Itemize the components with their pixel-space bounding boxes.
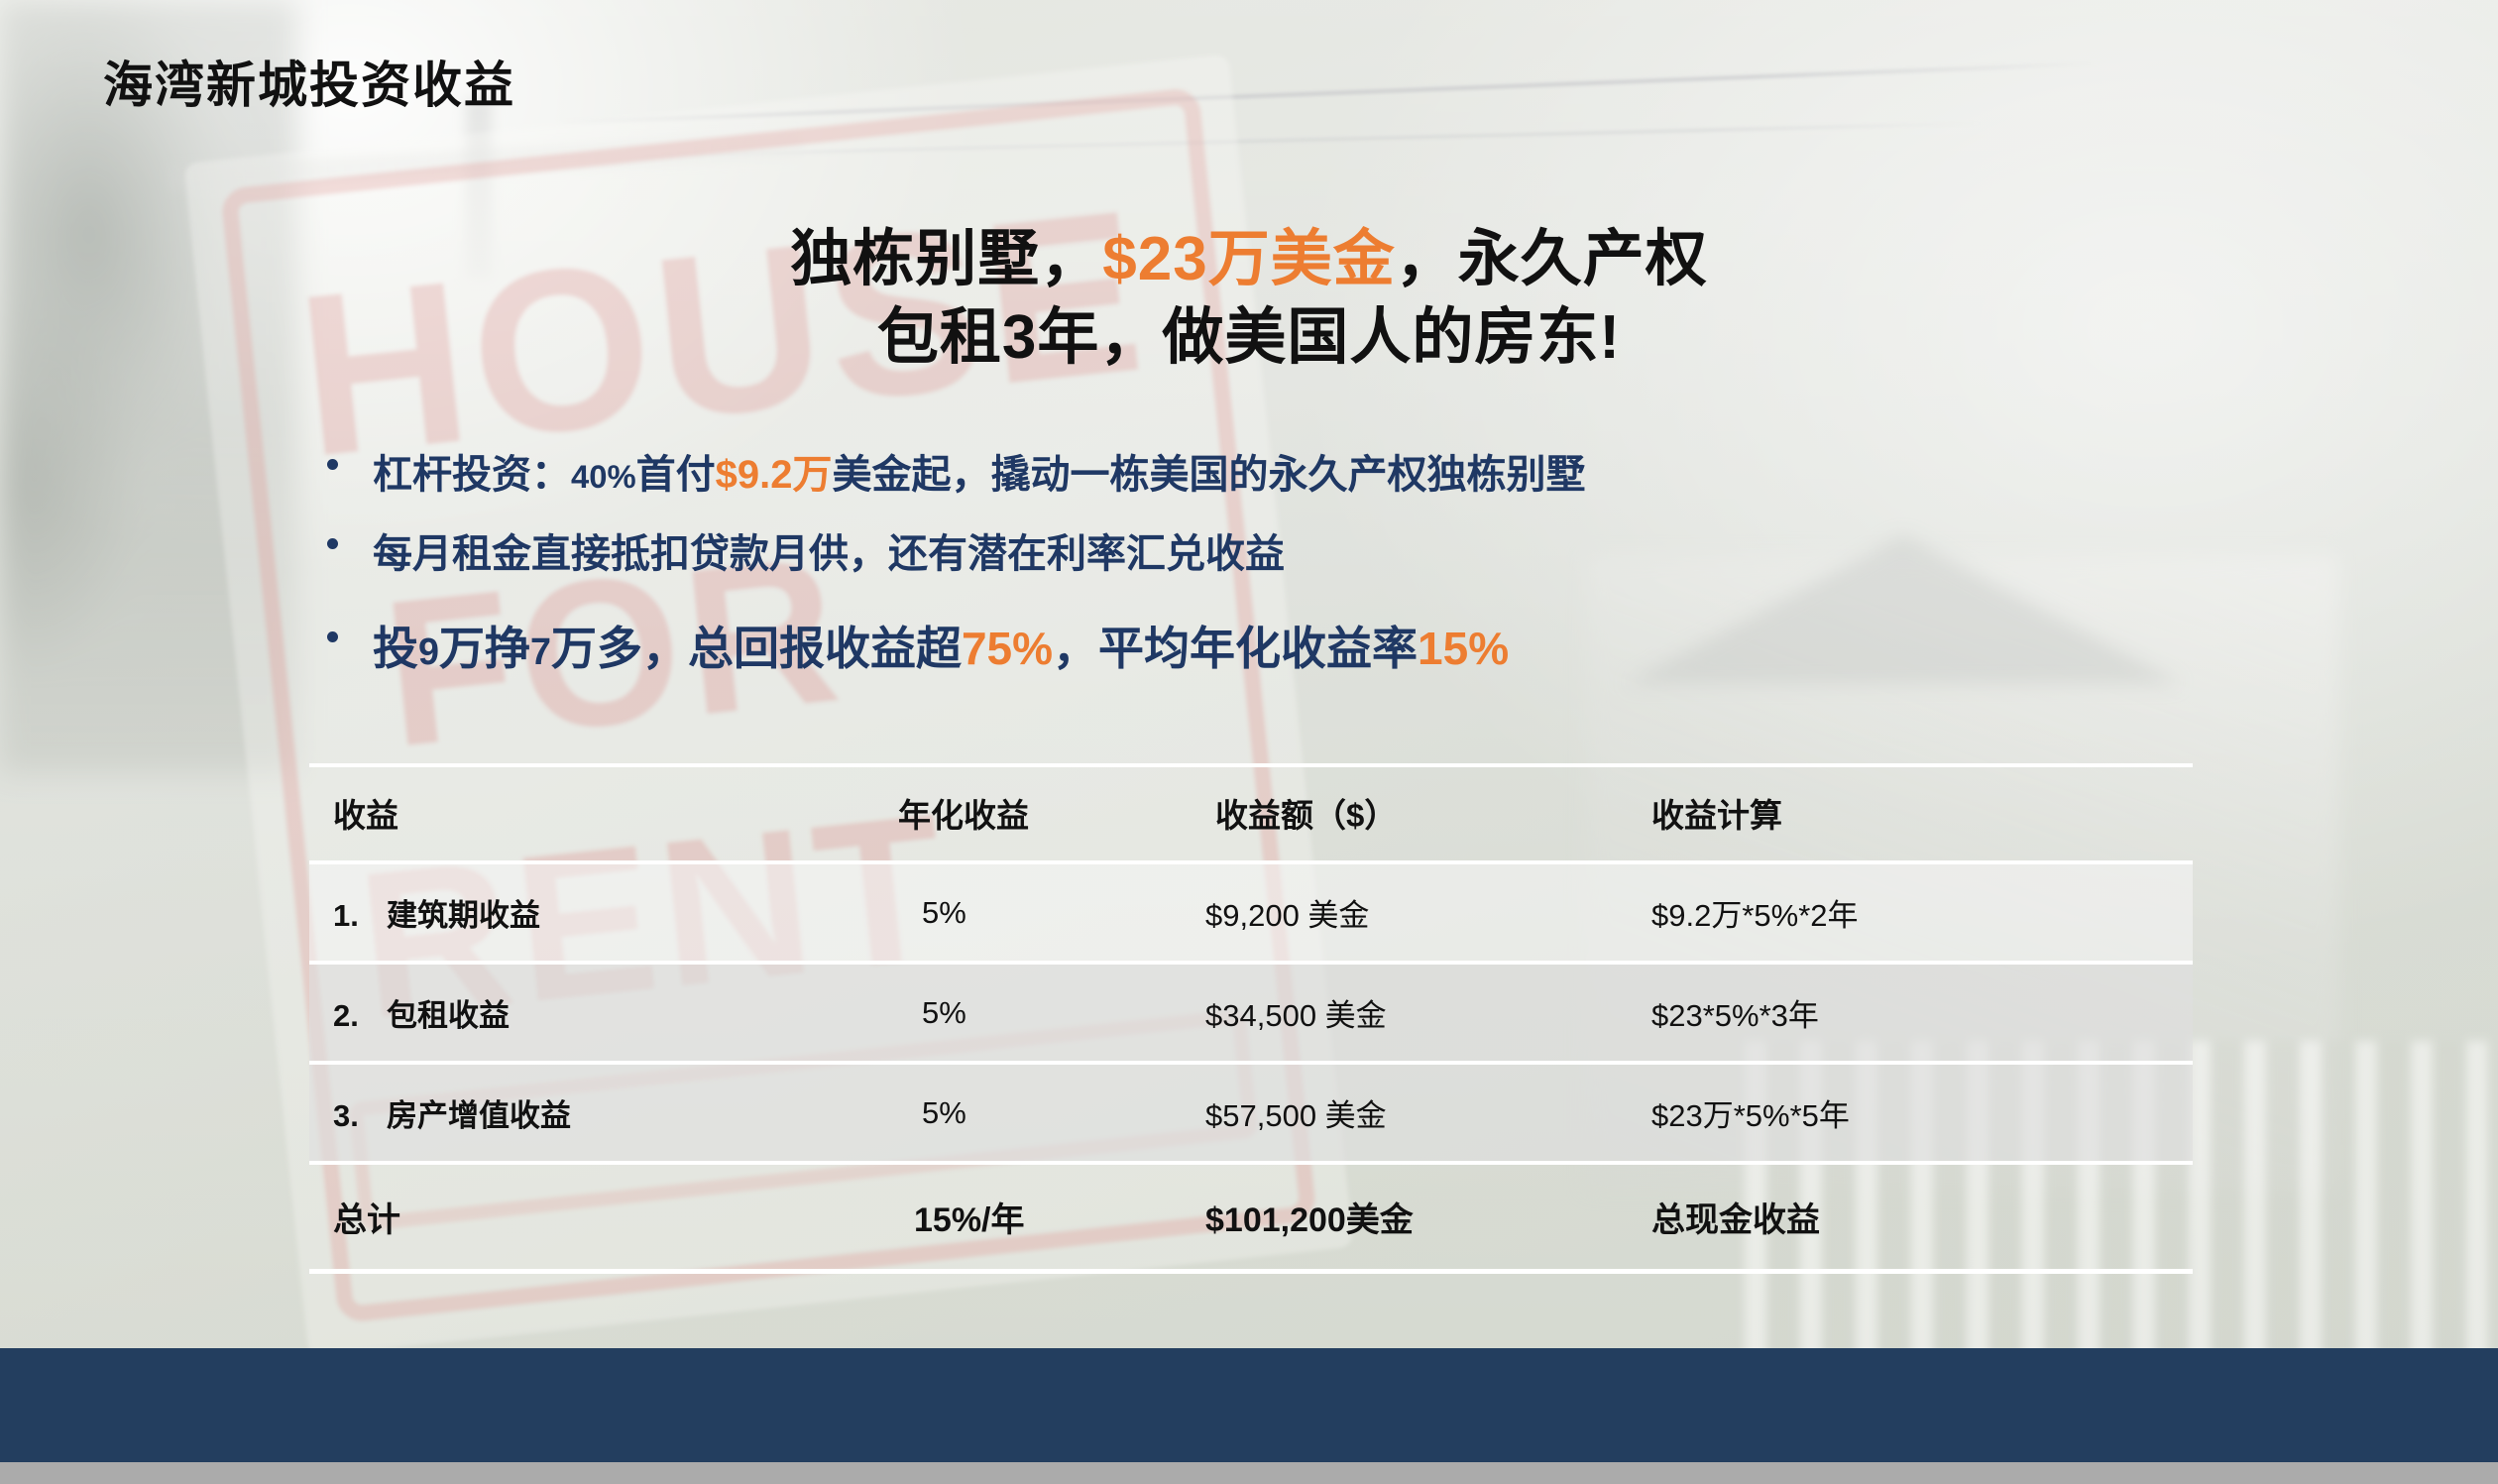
headline-line1-prefix: 独栋别墅， <box>790 225 1102 293</box>
row3-index: 3. <box>333 1098 387 1134</box>
bullet2-text: 每月租金直接抵扣贷款月供，还有潜在利率汇兑收益 <box>373 532 1285 576</box>
table-header-annual-rate: 年化收益 <box>864 765 1192 862</box>
bullet1-suffix: 美金起，撬动一栋美国的永久产权独栋别墅 <box>833 453 1586 497</box>
headline-line-2: 包租3年，做美国人的房东! <box>0 298 2498 377</box>
slide-content: 海湾新城投资收益 独栋别墅，$23万美金，永久产权 包租3年，做美国人的房东! … <box>0 0 2498 1484</box>
bullet1-prefix: 杠杆投资： <box>373 453 571 497</box>
headline-line-1: 独栋别墅，$23万美金，永久产权 <box>0 220 2498 298</box>
row1-amount: $9,200 美金 <box>1192 862 1628 963</box>
row3-name: 房产增值收益 <box>387 1098 571 1133</box>
table-header-calculation: 收益计算 <box>1628 765 2193 862</box>
bullet-dot-icon <box>327 459 338 470</box>
bullet-list: 杠杆投资：40%首付$9.2万美金起，撬动一栋美国的永久产权独栋别墅 每月租金直… <box>309 442 2292 678</box>
headline: 独栋别墅，$23万美金，永久产权 包租3年，做美国人的房东! <box>0 220 2498 378</box>
table-total-row: 总计 15%/年 $101,200美金 总现金收益 <box>309 1163 2193 1272</box>
bullet3-profit-amount: 7 <box>530 630 551 672</box>
row1-rate: 5% <box>864 862 1192 963</box>
table-row: 2.包租收益 5% $34,500 美金 $23*5%*3年 <box>309 963 2193 1063</box>
table-footer: 总计 15%/年 $101,200美金 总现金收益 <box>309 1163 2193 1272</box>
bullet-item-total-return: 投9万挣7万多，总回报收益超75%，平均年化收益率15% <box>309 613 2292 678</box>
table-header-amount: 收益额（$） <box>1192 765 1628 862</box>
bullet3-mid3: ，平均年化收益率 <box>1053 623 1418 674</box>
table-row: 1.建筑期收益 5% $9,200 美金 $9.2万*5%*2年 <box>309 862 2193 963</box>
total-formula: 总现金收益 <box>1628 1163 2193 1272</box>
row2-name: 包租收益 <box>387 998 510 1033</box>
table-header: 收益 年化收益 收益额（$） 收益计算 <box>309 765 2193 862</box>
bullet3-annual-return-accent: 15% <box>1418 623 1509 674</box>
bullet1-percent: 40% <box>571 458 636 495</box>
footer-bar <box>0 1348 2498 1462</box>
page-title: 海湾新城投资收益 <box>103 46 515 117</box>
table-body: 1.建筑期收益 5% $9,200 美金 $9.2万*5%*2年 2.包租收益 … <box>309 862 2193 1163</box>
row3-rate: 5% <box>864 1063 1192 1163</box>
bullet-item-leverage: 杠杆投资：40%首付$9.2万美金起，撬动一栋美国的永久产权独栋别墅 <box>309 442 2292 500</box>
row1-name: 建筑期收益 <box>387 898 540 933</box>
footer-bottom-strip <box>0 1462 2498 1484</box>
table-row: 3.房产增值收益 5% $57,500 美金 $23万*5%*5年 <box>309 1063 2193 1163</box>
row2-amount: $34,500 美金 <box>1192 963 1628 1063</box>
bullet-dot-icon <box>327 538 338 549</box>
bullet3-prefix: 投 <box>373 623 418 674</box>
headline-price-accent: $23万美金 <box>1102 225 1395 293</box>
row3-name-cell: 3.房产增值收益 <box>309 1063 864 1163</box>
bullet-item-rent-offsets-mortgage: 每月租金直接抵扣贷款月供，还有潜在利率汇兑收益 <box>309 521 2292 579</box>
bullet3-mid2: 万多，总回报收益超 <box>551 623 962 674</box>
bullet1-downpayment-label: 首付 <box>636 453 716 497</box>
total-rate: 15%/年 <box>864 1163 1192 1272</box>
earnings-table: 收益 年化收益 收益额（$） 收益计算 1.建筑期收益 5% $9,200 美金… <box>309 763 2193 1274</box>
slide-root: HOUSE FOR RENT 海湾新城投资收益 独栋别墅，$23万美金，永久产权… <box>0 0 2498 1484</box>
row1-formula: $9.2万*5%*2年 <box>1628 862 2193 963</box>
row3-amount: $57,500 美金 <box>1192 1063 1628 1163</box>
row1-index: 1. <box>333 898 387 934</box>
row2-name-cell: 2.包租收益 <box>309 963 864 1063</box>
row3-formula: $23万*5%*5年 <box>1628 1063 2193 1163</box>
earnings-table-wrapper: 收益 年化收益 收益额（$） 收益计算 1.建筑期收益 5% $9,200 美金… <box>309 763 2193 1274</box>
bullet3-total-return-accent: 75% <box>962 623 1053 674</box>
row2-formula: $23*5%*3年 <box>1628 963 2193 1063</box>
row2-index: 2. <box>333 998 387 1034</box>
bullet3-invest-amount: 9 <box>418 630 439 672</box>
row2-rate: 5% <box>864 963 1192 1063</box>
row1-name-cell: 1.建筑期收益 <box>309 862 864 963</box>
headline-line1-suffix: ，永久产权 <box>1396 225 1708 293</box>
total-label: 总计 <box>309 1163 864 1272</box>
table-header-earnings: 收益 <box>309 765 864 862</box>
bullet-dot-icon <box>327 631 338 642</box>
total-amount: $101,200美金 <box>1192 1163 1628 1272</box>
bullet3-mid1: 万挣 <box>439 623 530 674</box>
table-header-row: 收益 年化收益 收益额（$） 收益计算 <box>309 765 2193 862</box>
bullet1-amount-accent: $9.2万 <box>716 453 833 497</box>
